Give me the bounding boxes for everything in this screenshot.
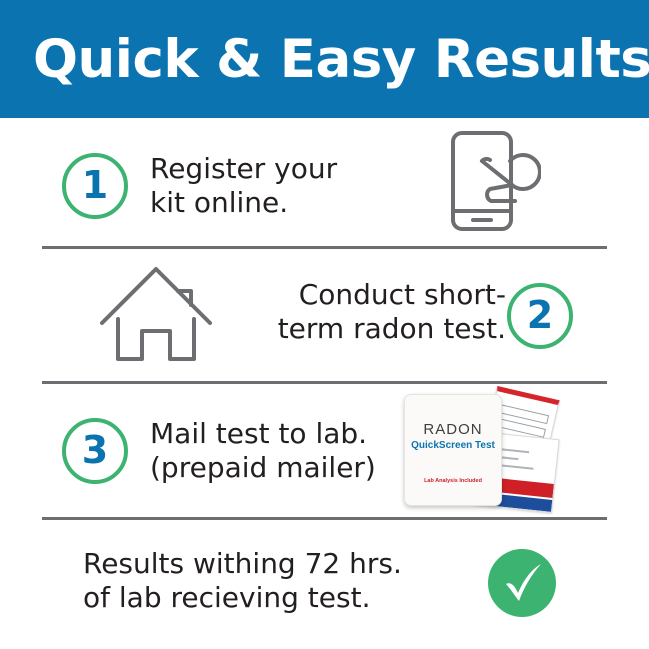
radon-kit-photo: RADON QuickScreen Test Lab Analysis Incl…	[404, 390, 569, 510]
infographic-root: Quick & Easy Results 1 Register your kit…	[0, 0, 649, 649]
smartphone-tap-icon-svg	[449, 129, 541, 233]
step-row-2: Conduct short- term radon test. 2	[0, 250, 649, 381]
kit-product-label: QuickScreen Test	[405, 440, 501, 451]
header-banner: Quick & Easy Results	[0, 0, 649, 118]
divider-3	[42, 517, 607, 520]
house-icon	[96, 259, 216, 369]
step-number-2: 2	[527, 296, 553, 334]
step-row-3: 3 Mail test to lab. (prepaid mailer) RAD…	[0, 385, 649, 517]
step-number-badge-2: 2	[507, 283, 573, 349]
smartphone-tap-icon	[449, 129, 541, 233]
step-row-1: 1 Register your kit online.	[0, 126, 649, 246]
kit-brand-label: RADON	[405, 421, 501, 438]
kit-note-label: Lab Analysis Included	[405, 478, 501, 484]
step-number-badge-3: 3	[62, 418, 128, 484]
result-text: Results withing 72 hrs. of lab recieving…	[83, 547, 402, 615]
step-text-1: Register your kit online.	[150, 152, 337, 220]
divider-1	[42, 246, 607, 249]
checkmark-circle-icon	[488, 549, 556, 617]
step-number-3: 3	[82, 431, 108, 469]
step-number-1: 1	[82, 166, 108, 204]
step-number-badge-1: 1	[62, 153, 128, 219]
checkmark-circle-icon-svg	[488, 549, 556, 617]
house-icon-svg	[96, 259, 216, 369]
page-title: Quick & Easy Results	[33, 33, 649, 86]
step-text-3: Mail test to lab. (prepaid mailer)	[150, 417, 376, 485]
result-row: Results withing 72 hrs. of lab recieving…	[0, 521, 649, 649]
divider-2	[42, 381, 607, 384]
step-text-2: Conduct short- term radon test.	[278, 278, 506, 346]
radon-kit-box: RADON QuickScreen Test Lab Analysis Incl…	[404, 394, 502, 506]
